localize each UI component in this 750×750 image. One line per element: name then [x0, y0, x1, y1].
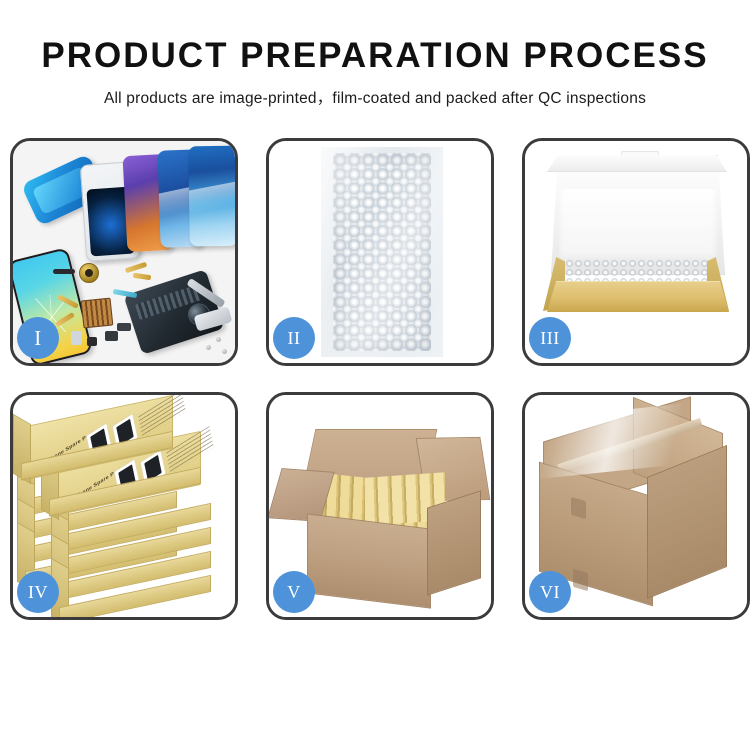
film-highlight	[321, 147, 443, 357]
white-foam-sheet	[559, 189, 717, 263]
carton-handle-notch-bottom	[573, 569, 588, 592]
screw-1	[216, 337, 221, 342]
kraft-box-front	[547, 281, 729, 312]
earpiece-speaker-part	[53, 269, 75, 274]
camera-module-part	[87, 337, 97, 346]
flex-cable-4	[125, 262, 147, 274]
step-panel-3: III	[522, 138, 750, 366]
step-panel-5: V	[266, 392, 494, 620]
page-subtitle: All products are image-printed，film-coat…	[0, 75, 750, 108]
step-badge-4: IV	[17, 571, 59, 613]
step-panel-6: VI	[522, 392, 750, 620]
phone-display-gradient	[188, 146, 235, 247]
vibrator-coil	[79, 263, 99, 283]
step-panel-4: Mobile Phone Spare Parts Mobile Phone Sp…	[10, 392, 238, 620]
screw-2	[206, 345, 211, 350]
page-title: PRODUCT PREPARATION PROCESS	[0, 0, 750, 75]
battery-part	[71, 331, 82, 345]
product-preparation-infographic: PRODUCT PREPARATION PROCESS All products…	[0, 0, 750, 750]
step-badge-2: II	[273, 317, 315, 359]
steps-grid: I II III	[10, 138, 740, 683]
sim-tray-part	[117, 323, 131, 331]
step-badge-6: VI	[529, 571, 571, 613]
step-panel-1: I	[10, 138, 238, 366]
carton-right-face	[427, 490, 481, 596]
box-lid-lip	[547, 155, 727, 172]
screw-3	[222, 349, 227, 354]
step-badge-5: V	[273, 571, 315, 613]
step-badge-3: III	[529, 317, 571, 359]
flex-cable-5	[133, 273, 152, 280]
header: PRODUCT PREPARATION PROCESS All products…	[0, 0, 750, 108]
step-badge-1: I	[17, 317, 59, 359]
step-panel-2: II	[266, 138, 494, 366]
speaker-box-part	[105, 331, 118, 341]
connector-chip-grid	[81, 298, 114, 329]
carton-front-face	[307, 513, 431, 608]
